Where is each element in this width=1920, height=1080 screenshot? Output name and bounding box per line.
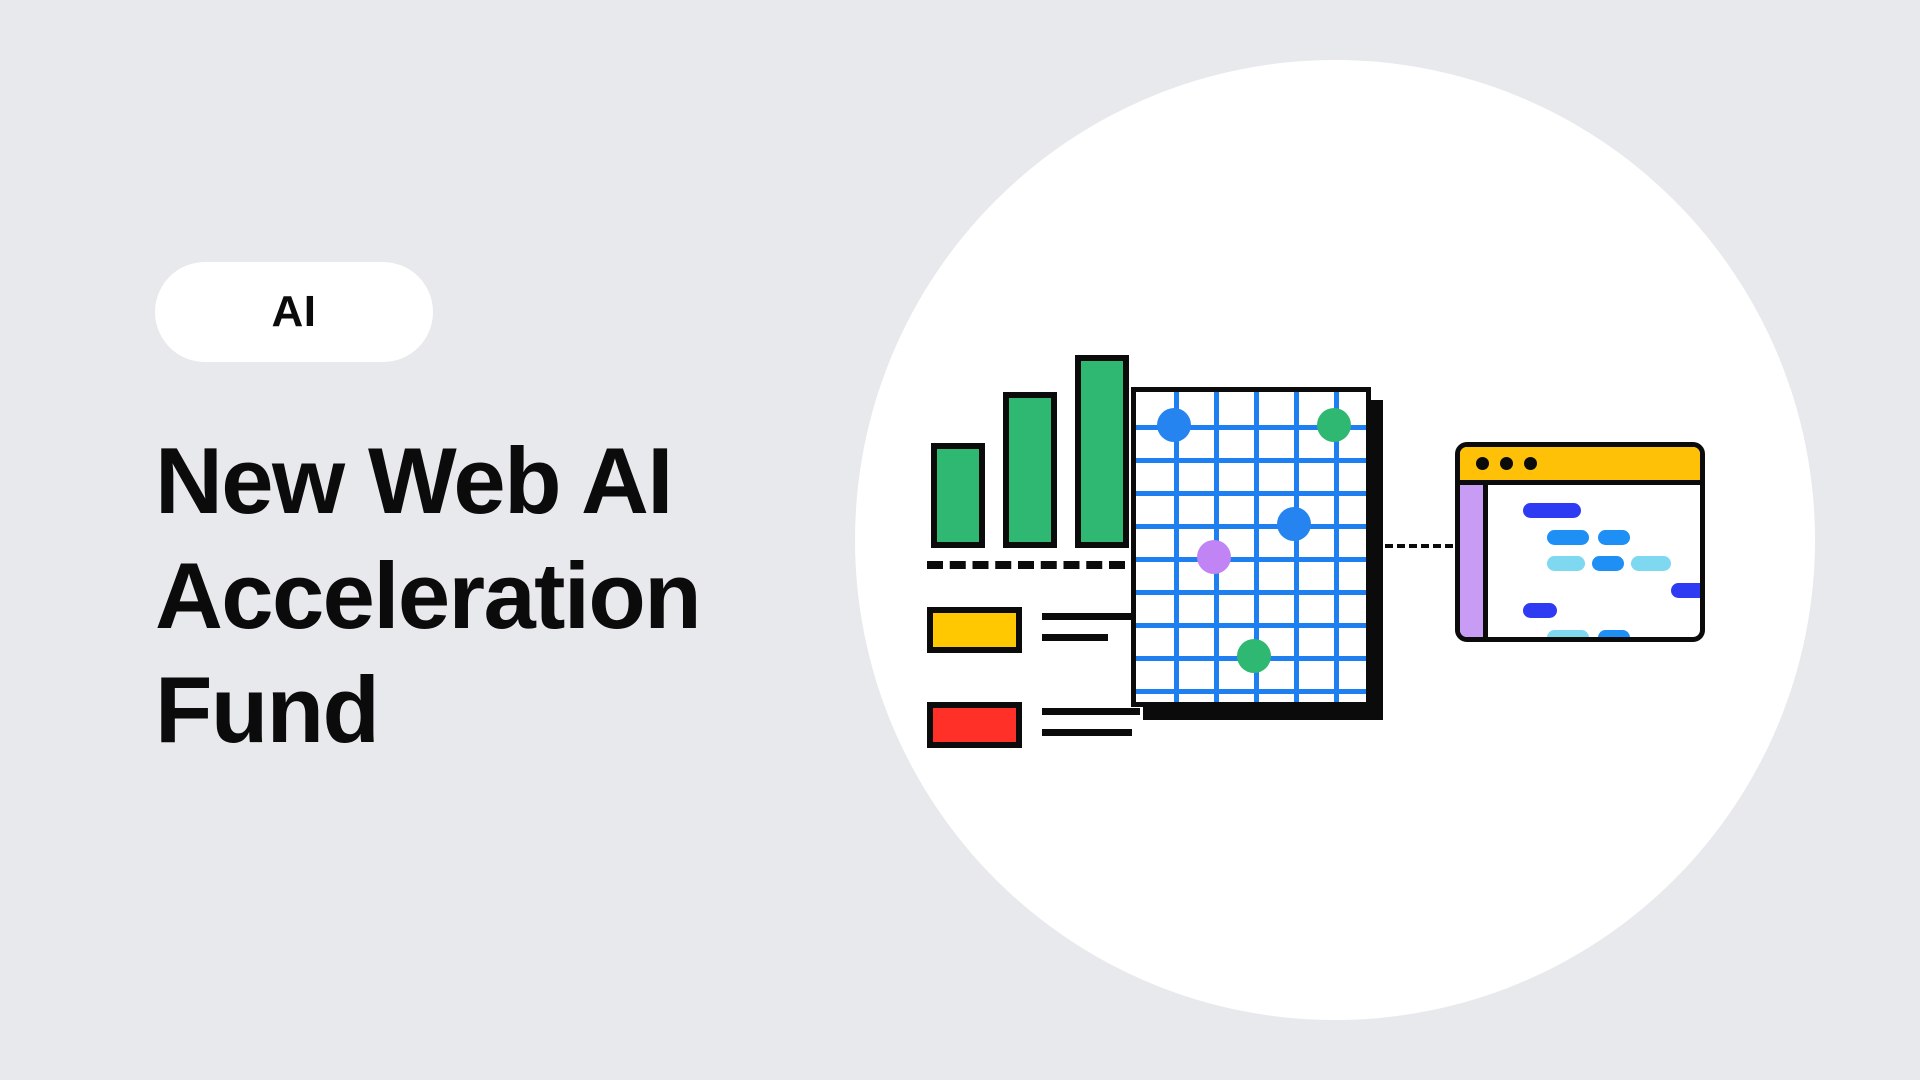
legend-rule-yellow-1 [1042,613,1140,620]
code-token-5 [1592,556,1624,571]
code-window-titlebar [1460,447,1700,485]
green-dot-top-right [1317,408,1351,442]
window-minimize-dot-icon[interactable] [1500,457,1513,470]
grid-line-horizontal-2 [1136,458,1366,463]
code-token-7 [1671,583,1705,598]
bar-green-3 [1075,355,1129,548]
code-token-4 [1547,556,1585,571]
ai-badge-label: AI [272,290,317,334]
code-token-8 [1547,630,1589,642]
data-grid-panel [1131,387,1371,707]
dashed-connector-right [1385,544,1453,548]
code-token-keyword-2 [1523,603,1557,618]
window-maximize-dot-icon[interactable] [1524,457,1537,470]
grid-line-horizontal-5 [1136,557,1366,562]
dashed-baseline-left [927,561,1125,569]
ai-category-badge[interactable]: AI [155,262,433,362]
bar-green-2 [1003,392,1057,548]
page-title: New Web AI Acceleration Fund [155,424,795,768]
grid-line-horizontal-7 [1136,623,1366,628]
legend-rule-red-1 [1042,708,1140,715]
hero-illustration [855,30,1815,1050]
bar-red-error [927,702,1022,748]
grid-line-horizontal-4 [1136,524,1366,529]
blue-dot-top-left [1157,408,1191,442]
legend-rule-yellow-2 [1042,634,1108,641]
code-token-3 [1598,530,1630,545]
data-grid-inner [1136,392,1366,702]
illustration-artwork [855,30,1815,1050]
blue-dot-center [1277,507,1311,541]
purple-dot-center-left [1197,540,1231,574]
grid-line-horizontal-6 [1136,590,1366,595]
green-dot-bottom [1237,639,1271,673]
legend-rule-red-2 [1042,729,1132,736]
window-close-dot-icon[interactable] [1476,457,1489,470]
code-token-2 [1547,530,1589,545]
bar-green-1 [931,443,985,548]
code-token-9 [1598,630,1630,642]
grid-line-horizontal-9 [1136,689,1366,694]
code-window [1455,442,1705,642]
code-token-keyword-1 [1523,503,1581,518]
grid-line-horizontal-3 [1136,491,1366,496]
code-window-sidebar [1460,485,1488,637]
hero-text-panel: AI New Web AI Acceleration Fund [155,262,855,768]
bar-yellow-warning [927,607,1022,653]
code-token-6 [1631,556,1671,571]
code-window-body [1493,485,1700,637]
